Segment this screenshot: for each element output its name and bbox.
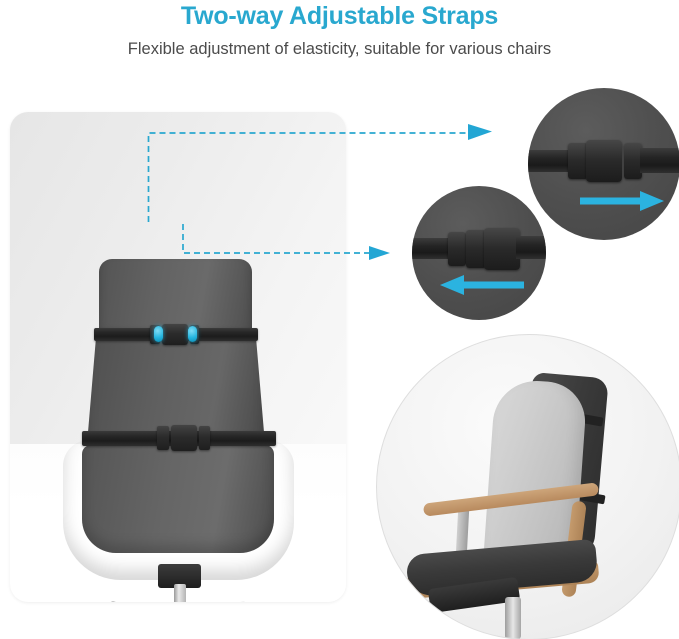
inset-b-arrow-left-icon [436,272,526,298]
lower-buckle-left-tab [157,426,169,450]
lower-buckle-body [171,425,197,451]
inset-strap-buckle-loosen [412,186,546,320]
upper-buckle-body [162,324,188,345]
inset-b-buckle-tab-mid [466,230,486,268]
page-title: Two-way Adjustable Straps [0,2,679,31]
page-subtitle: Flexible adjustment of elasticity, suita… [0,40,679,59]
chair-seat-back-panel [82,445,274,553]
lower-buckle-right-tab [199,426,210,450]
inset-a-strap-right [640,148,679,173]
inset-a-arrow-right-icon [578,188,668,214]
inset-strap-buckle-tighten [528,88,679,240]
callout-arrowhead-lower [369,246,390,260]
inset-b-buckle-tab-left [448,232,466,266]
infographic-page: Two-way Adjustable Straps Flexible adjus… [0,0,679,639]
inset-b-strap-right [516,236,546,259]
product-stage-panel [10,112,346,602]
inset-a-buckle-body [586,140,622,182]
inset-chair-side-view [376,334,679,639]
side-chair-column [505,597,521,639]
inset-a-buckle-tab-left [568,143,588,179]
strap-highlight-pip-left [154,326,163,342]
chair-gas-cylinder [174,584,186,602]
strap-highlight-pip-right [188,326,197,342]
callout-arrowhead-upper [468,124,492,140]
inset-b-buckle-body [484,228,520,270]
